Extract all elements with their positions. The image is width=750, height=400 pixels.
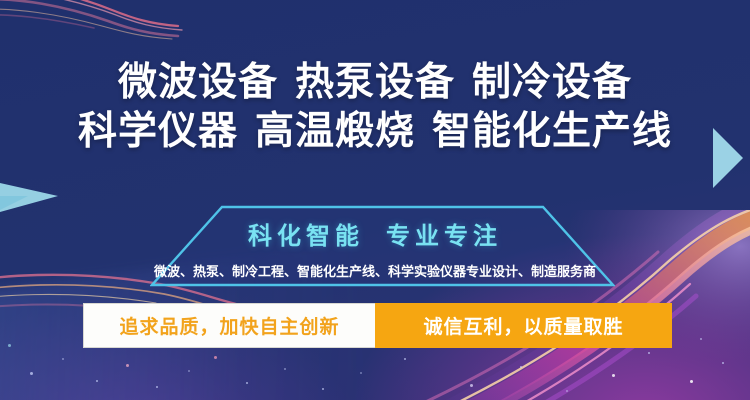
promotional-banner: 微波设备热泵设备制冷设备 科学仪器高温煅烧智能化生产线 科化智能专业专注 微波、…: [0, 0, 750, 400]
slogan-left: 追求品质，加快自主创新: [83, 303, 375, 348]
headline-2-part-1: 科学仪器: [78, 109, 238, 154]
headline-1-part-3: 制冷设备: [472, 60, 632, 105]
headline-1-part-1: 微波设备: [118, 60, 278, 105]
headline-2-part-3: 智能化生产线: [432, 109, 672, 154]
panel-title-left: 科化智能: [248, 222, 364, 250]
headline-line-1: 微波设备热泵设备制冷设备: [0, 58, 750, 107]
headline-1-part-2: 热泵设备: [295, 60, 455, 105]
headline-block: 微波设备热泵设备制冷设备 科学仪器高温煅烧智能化生产线: [0, 58, 750, 156]
slogan-right: 诚信互利，以质量取胜: [375, 303, 672, 348]
slogan-bar: 追求品质，加快自主创新 诚信互利，以质量取胜: [83, 303, 672, 348]
panel-subtitle: 微波、热泵、制冷工程、智能化生产线、科学实验仪器专业设计、制造服务商: [0, 261, 750, 280]
headline-2-part-2: 高温煅烧: [255, 109, 415, 154]
panel-title-right: 专业专注: [386, 222, 502, 250]
panel-title: 科化智能专业专注: [0, 216, 750, 251]
headline-line-2: 科学仪器高温煅烧智能化生产线: [0, 107, 750, 156]
